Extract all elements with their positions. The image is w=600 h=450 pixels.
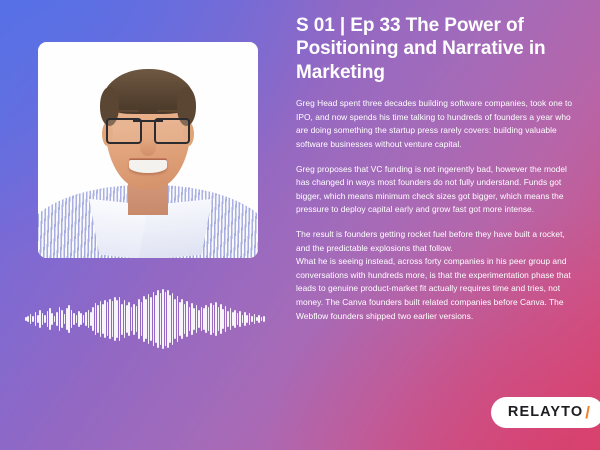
waveform-bar xyxy=(186,301,188,337)
waveform-bar xyxy=(213,305,215,332)
waveform-bar xyxy=(141,302,143,337)
waveform-bar xyxy=(220,304,222,334)
waveform-bar xyxy=(59,307,61,332)
waveform-bar xyxy=(126,305,128,332)
waveform-bar xyxy=(169,295,171,342)
waveform-bar xyxy=(254,314,256,323)
waveform-bar xyxy=(66,308,68,329)
waveform-bar xyxy=(165,292,167,347)
waveform-bar xyxy=(97,305,99,332)
relayto-logo-text: RELAYTO xyxy=(508,405,583,420)
media-column xyxy=(0,0,282,450)
waveform-bar xyxy=(174,299,176,340)
waveform-bar xyxy=(222,309,224,329)
waveform-bar xyxy=(198,310,200,327)
waveform-bar xyxy=(201,307,203,332)
waveform-bar xyxy=(160,293,162,345)
episode-content: S 01 | Ep 33 The Power of Positioning an… xyxy=(296,14,576,334)
waveform-bar xyxy=(30,314,32,324)
waveform-bar xyxy=(49,308,51,329)
waveform-bar xyxy=(184,304,186,334)
waveform-bar xyxy=(225,306,227,332)
waveform-bar xyxy=(85,312,87,326)
waveform-bar xyxy=(145,299,147,340)
waveform-bar xyxy=(234,310,236,329)
waveform-bar xyxy=(244,312,246,326)
waveform-bar xyxy=(258,315,260,322)
waveform-bar xyxy=(119,297,121,342)
waveform-bar xyxy=(112,301,114,337)
waveform-bar xyxy=(208,307,210,332)
waveform-bar xyxy=(153,292,155,347)
page-title: S 01 | Ep 33 The Power of Positioning an… xyxy=(296,14,576,84)
portrait-nose xyxy=(140,139,155,156)
waveform-bar xyxy=(80,313,82,324)
waveform-bar xyxy=(116,300,118,337)
waveform-bar xyxy=(44,315,46,322)
waveform-bar xyxy=(54,316,56,322)
portrait-smile xyxy=(129,160,166,173)
waveform-bar xyxy=(56,312,58,327)
waveform-bar xyxy=(181,299,183,340)
waveform-bar xyxy=(83,315,85,322)
waveform-bar xyxy=(88,310,90,329)
waveform-bar xyxy=(114,297,116,340)
waveform-bar xyxy=(32,316,34,322)
waveform-bar xyxy=(239,311,241,327)
waveform-bar xyxy=(150,297,152,342)
waveform-bar xyxy=(205,305,207,334)
relayto-logo-slash: / xyxy=(585,404,590,421)
waveform-bar xyxy=(71,310,73,329)
waveform-bar xyxy=(242,315,244,324)
waveform-bar xyxy=(227,311,229,327)
waveform-bar xyxy=(78,311,80,327)
paragraph-block-2: Greg proposes that VC funding is not ing… xyxy=(296,163,576,217)
paragraph-block-3: The result is founders getting rocket fu… xyxy=(296,228,576,323)
episode-paragraph: Greg proposes that VC funding is not ing… xyxy=(296,163,576,217)
audio-waveform xyxy=(25,288,265,350)
guest-portrait xyxy=(38,42,258,258)
waveform-bar xyxy=(51,313,53,324)
waveform-bar xyxy=(64,314,66,324)
waveform-bar xyxy=(246,315,248,322)
waveform-bar xyxy=(92,307,94,331)
waveform-bar xyxy=(68,305,70,334)
waveform-bar xyxy=(237,313,239,324)
waveform-bar xyxy=(124,300,126,338)
portrait-brow-left xyxy=(111,110,140,112)
waveform-bar xyxy=(133,304,135,335)
waveform-bar xyxy=(172,293,174,345)
waveform-bar xyxy=(210,303,212,335)
waveform-bar xyxy=(189,307,191,332)
episode-paragraph: Greg Head spent three decades building s… xyxy=(296,97,576,151)
waveform-bar xyxy=(256,317,258,322)
waveform-bar xyxy=(251,316,253,322)
waveform-bar xyxy=(179,302,181,337)
waveform-bar xyxy=(191,303,193,335)
waveform-bar xyxy=(261,317,263,321)
waveform-bar xyxy=(157,290,159,347)
waveform-bar xyxy=(162,289,164,349)
waveform-bar xyxy=(100,301,102,337)
waveform-bar xyxy=(215,302,217,337)
waveform-bar xyxy=(128,302,130,337)
waveform-bar xyxy=(196,305,198,334)
glasses-bridge xyxy=(133,120,164,122)
waveform-bar xyxy=(95,303,97,335)
waveform-bar xyxy=(136,306,138,332)
waveform-bar xyxy=(232,312,234,326)
waveform-bar xyxy=(27,316,29,322)
waveform-bar xyxy=(42,313,44,325)
relayto-logo[interactable]: RELAYTO / xyxy=(491,397,600,428)
waveform-bar xyxy=(39,310,41,329)
waveform-bar xyxy=(102,304,104,334)
waveform-bar xyxy=(230,308,232,330)
waveform-bar xyxy=(249,313,251,324)
waveform-bar xyxy=(90,312,92,327)
waveform-bar xyxy=(148,294,150,345)
waveform-bar xyxy=(155,295,157,343)
waveform-bar xyxy=(263,316,265,322)
waveform-bar xyxy=(109,299,111,340)
waveform-bar xyxy=(138,299,140,339)
waveform-bar xyxy=(104,300,106,338)
episode-paragraph: The result is founders getting rocket fu… xyxy=(296,228,576,323)
waveform-bar xyxy=(121,304,123,335)
paragraph-block-1: Greg Head spent three decades building s… xyxy=(296,97,576,151)
waveform-bar xyxy=(143,296,145,342)
waveform-bar xyxy=(76,315,78,324)
waveform-bar xyxy=(37,315,39,324)
waveform-bar xyxy=(25,317,27,321)
waveform-bar xyxy=(61,310,63,327)
waveform-bar xyxy=(203,308,205,329)
waveform-bar xyxy=(35,312,37,326)
portrait-brow-right xyxy=(157,110,186,112)
waveform-bar xyxy=(177,296,179,342)
waveform-bar xyxy=(73,313,75,325)
waveform-bar xyxy=(218,307,220,331)
waveform-bar xyxy=(107,302,109,335)
waveform-bar xyxy=(167,290,169,347)
waveform-bar xyxy=(131,307,133,331)
waveform-bar xyxy=(193,308,195,329)
waveform-bar xyxy=(47,311,49,327)
